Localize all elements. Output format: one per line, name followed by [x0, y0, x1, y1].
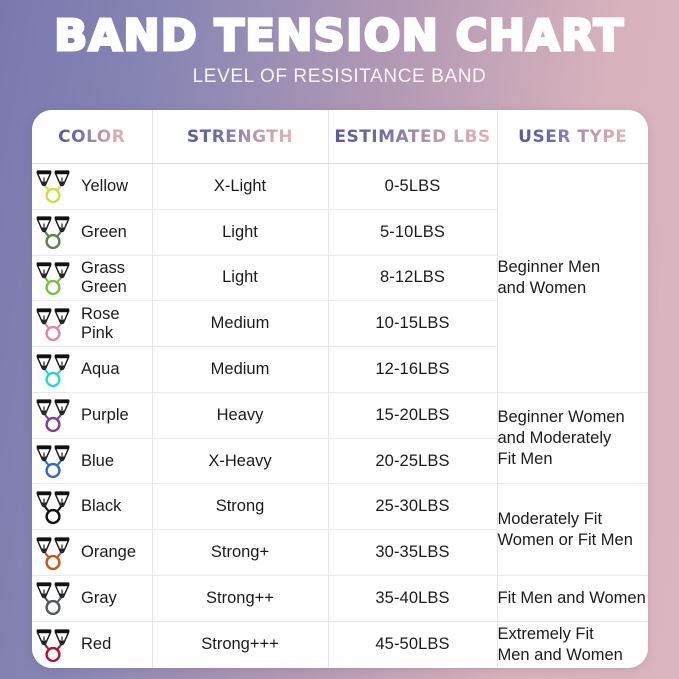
resistance-band-icon — [32, 487, 76, 527]
cell-color: Yellow — [32, 164, 152, 210]
cell-strength: Strong+++ — [152, 621, 328, 668]
column-header-user-type: USER TYPE — [497, 110, 648, 164]
cell-color: Purple — [32, 392, 152, 438]
resistance-band-icon — [32, 625, 76, 665]
table-row: BlackStrong25-30LBSModerately FitWomen o… — [32, 484, 648, 530]
table-row: RedStrong+++45-50LBSExtremely FitMen and… — [32, 621, 648, 668]
cell-estimated-lbs: 45-50LBS — [328, 621, 497, 668]
cell-user-type: Moderately FitWomen or Fit Men — [497, 484, 648, 576]
resistance-band-icon — [32, 304, 76, 344]
cell-strength: Strong++ — [152, 576, 328, 622]
cell-estimated-lbs: 0-5LBS — [328, 164, 497, 210]
cell-color: Green — [32, 209, 152, 255]
resistance-band-icon — [32, 578, 76, 618]
column-header-strength-label: STRENGTH — [187, 127, 293, 147]
cell-estimated-lbs: 35-40LBS — [328, 576, 497, 622]
column-header-color: COLOR — [32, 110, 152, 164]
band-color-name: RosePink — [81, 305, 120, 343]
cell-strength: Medium — [152, 347, 328, 393]
band-tension-chart-page: BAND TENSION CHART LEVEL OF RESISITANCE … — [0, 0, 679, 679]
cell-color: Black — [32, 484, 152, 530]
cell-color: Aqua — [32, 347, 152, 393]
cell-estimated-lbs: 10-15LBS — [328, 301, 497, 347]
table-body: YellowX-Light0-5LBSBeginner Menand Women… — [32, 164, 648, 669]
column-header-estimated-lbs: ESTIMATED LBS — [328, 110, 497, 164]
cell-strength: X-Light — [152, 164, 328, 210]
resistance-band-icon — [32, 533, 76, 573]
column-header-estimated-lbs-label: ESTIMATED LBS — [334, 127, 490, 147]
band-color-name: GrassGreen — [81, 259, 127, 297]
page-subtitle: LEVEL OF RESISITANCE BAND — [0, 66, 679, 88]
cell-user-type: Beginner Menand Women — [497, 164, 648, 393]
cell-user-type: Extremely FitMen and Women — [497, 621, 648, 668]
resistance-band-icon — [32, 350, 76, 390]
cell-color: Gray — [32, 576, 152, 622]
resistance-band-icon — [32, 212, 76, 252]
cell-strength: Light — [152, 255, 328, 301]
band-color-name: Black — [81, 497, 121, 516]
cell-strength: Strong — [152, 484, 328, 530]
column-header-user-type-label: USER TYPE — [518, 127, 627, 147]
band-color-name: Purple — [81, 406, 129, 425]
band-color-name: Blue — [81, 452, 114, 471]
cell-strength: Strong+ — [152, 530, 328, 576]
band-color-name: Green — [81, 223, 127, 242]
resistance-band-icon — [32, 441, 76, 481]
cell-color: Blue — [32, 438, 152, 484]
column-header-strength: STRENGTH — [152, 110, 328, 164]
cell-color: RosePink — [32, 301, 152, 347]
band-color-name: Red — [81, 635, 111, 654]
cell-user-type: Beginner Womenand ModeratelyFit Men — [497, 392, 648, 484]
cell-estimated-lbs: 20-25LBS — [328, 438, 497, 484]
band-tension-table: COLOR STRENGTH ESTIMATED LBS USER TYPE Y… — [32, 110, 648, 668]
resistance-band-icon — [32, 395, 76, 435]
band-color-name: Yellow — [81, 177, 128, 196]
table-row: GrayStrong++35-40LBSFit Men and Women — [32, 576, 648, 622]
page-title: BAND TENSION CHART — [0, 14, 679, 59]
cell-user-type: Fit Men and Women — [497, 576, 648, 622]
cell-strength: Light — [152, 209, 328, 255]
cell-strength: Heavy — [152, 392, 328, 438]
column-header-color-label: COLOR — [58, 127, 125, 147]
band-color-name: Aqua — [81, 360, 120, 379]
table-row: YellowX-Light0-5LBSBeginner Menand Women — [32, 164, 648, 210]
cell-color: GrassGreen — [32, 255, 152, 301]
cell-estimated-lbs: 5-10LBS — [328, 209, 497, 255]
cell-estimated-lbs: 8-12LBS — [328, 255, 497, 301]
cell-strength: Medium — [152, 301, 328, 347]
cell-estimated-lbs: 30-35LBS — [328, 530, 497, 576]
table-header: COLOR STRENGTH ESTIMATED LBS USER TYPE — [32, 110, 648, 164]
cell-estimated-lbs: 12-16LBS — [328, 347, 497, 393]
band-color-name: Orange — [81, 543, 136, 562]
band-color-name: Gray — [81, 589, 117, 608]
cell-estimated-lbs: 15-20LBS — [328, 392, 497, 438]
chart-card: COLOR STRENGTH ESTIMATED LBS USER TYPE Y… — [32, 110, 648, 668]
table-header-row: COLOR STRENGTH ESTIMATED LBS USER TYPE — [32, 110, 648, 164]
cell-color: Orange — [32, 530, 152, 576]
cell-strength: X-Heavy — [152, 438, 328, 484]
page-header: BAND TENSION CHART LEVEL OF RESISITANCE … — [0, 0, 679, 88]
cell-color: Red — [32, 621, 152, 668]
table-row: PurpleHeavy15-20LBSBeginner Womenand Mod… — [32, 392, 648, 438]
resistance-band-icon — [32, 166, 76, 206]
resistance-band-icon — [32, 258, 76, 298]
cell-estimated-lbs: 25-30LBS — [328, 484, 497, 530]
